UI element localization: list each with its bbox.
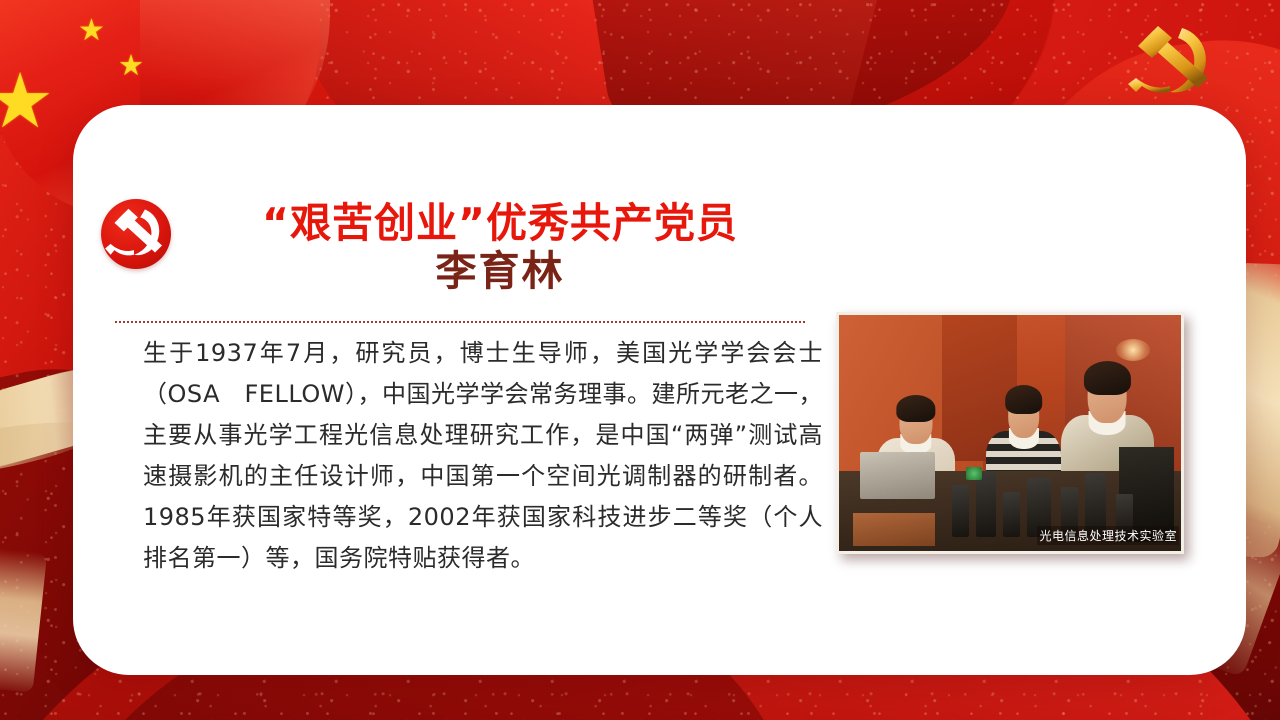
photo-optic-mount-2 <box>976 471 997 537</box>
photo-frame: 光电信息处理技术实验室 <box>836 312 1184 554</box>
photo-caption: 光电信息处理技术实验室 <box>1037 526 1179 545</box>
photo-lamp <box>1116 339 1150 361</box>
photo-wooden-box <box>853 513 935 546</box>
photo-person-left-hair <box>896 395 935 422</box>
photo-optic-mount-3 <box>1003 492 1020 537</box>
slide-root: ★ ★ ★ ★ ★ <box>0 0 1280 720</box>
photo-optic-mount-1 <box>952 485 969 537</box>
title-divider <box>115 321 805 323</box>
photo-green-laser-element <box>966 467 982 480</box>
title-block: “艰苦创业”优秀共产党员 李育林 <box>190 198 810 296</box>
photo-person-right-hair <box>1084 361 1130 395</box>
party-badge-icon <box>101 199 171 269</box>
photo-person-center-hair <box>1005 385 1043 414</box>
biography-text: 生于1937年7月，研究员，博士生导师，美国光学学会会士（OSA FELLOW）… <box>143 333 823 579</box>
page-title: “艰苦创业”优秀共产党员 <box>190 198 810 248</box>
photo-instrument-case <box>860 452 935 499</box>
party-emblem-icon <box>1118 14 1228 106</box>
person-name: 李育林 <box>190 246 810 296</box>
laboratory-group-photo: 光电信息处理技术实验室 <box>839 315 1181 551</box>
